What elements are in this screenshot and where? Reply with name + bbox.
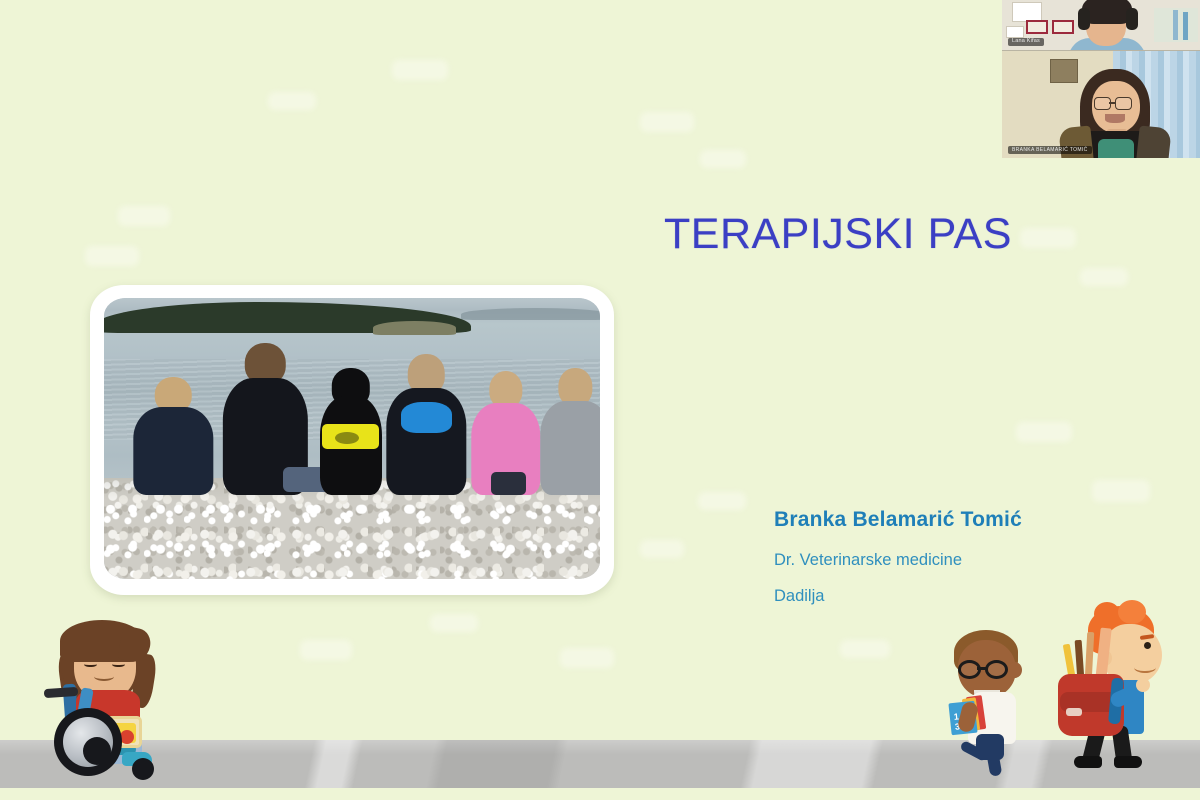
participant-name-label: BRANKA BELAMARIĆ TOMIĆ bbox=[1008, 146, 1092, 154]
girl-in-wheelchair-illustration bbox=[38, 612, 186, 772]
boy-with-books-illustration: 1 2 3 bbox=[944, 626, 1030, 776]
headset-icon bbox=[1126, 8, 1138, 30]
background-blob bbox=[1092, 480, 1150, 502]
eye-icon bbox=[1144, 642, 1151, 649]
smile-icon bbox=[1134, 662, 1156, 673]
wall-poster bbox=[1050, 59, 1078, 83]
eye-icon bbox=[112, 660, 125, 667]
child-dark-trousers bbox=[491, 472, 526, 494]
ground-underline bbox=[0, 788, 1200, 800]
background-blob bbox=[560, 648, 614, 668]
headset-icon bbox=[1078, 8, 1090, 30]
wheel-rim bbox=[63, 717, 113, 767]
video-conference-panel[interactable]: Lana Kifas BRANKA BELAMARIĆ TOMIĆ bbox=[1002, 0, 1200, 158]
picture-frame bbox=[1052, 20, 1074, 34]
paintbrush-icon bbox=[1085, 632, 1095, 680]
wall-shelf bbox=[1012, 2, 1042, 22]
beach-photo bbox=[104, 298, 600, 579]
slide-title: TERAPIJSKI PAS bbox=[664, 210, 1012, 259]
child-figure bbox=[387, 354, 466, 495]
wheel-hub bbox=[83, 737, 111, 765]
background-blob bbox=[85, 246, 139, 266]
presenter-name: Branka Belamarić Tomić bbox=[774, 508, 1022, 532]
background-blob bbox=[1080, 268, 1128, 286]
presenter-credential: Dr. Veterinarske medicine bbox=[774, 551, 1022, 570]
photo-frame bbox=[90, 285, 614, 595]
glasses-bridge-icon bbox=[977, 667, 987, 670]
background-blob bbox=[1016, 422, 1072, 442]
child-body bbox=[134, 407, 213, 494]
glasses-bridge-icon bbox=[1109, 102, 1116, 104]
child-body bbox=[540, 401, 600, 495]
video-tile-top[interactable]: Lana Kifas bbox=[1002, 0, 1200, 50]
wheelchair-wheel bbox=[54, 708, 122, 776]
background-blob bbox=[1020, 228, 1076, 248]
shoe-icon bbox=[1074, 756, 1102, 768]
background-blob bbox=[430, 614, 478, 632]
wall-shelf bbox=[1006, 26, 1024, 38]
glasses-lens-icon bbox=[1115, 97, 1132, 110]
trousers bbox=[976, 734, 1004, 760]
video-tile-bottom[interactable]: BRANKA BELAMARIĆ TOMIĆ bbox=[1002, 50, 1200, 158]
hair-curl bbox=[1118, 600, 1146, 624]
child-blue-hood bbox=[401, 402, 452, 433]
distant-shore bbox=[461, 308, 600, 321]
ear bbox=[1008, 662, 1022, 678]
shirt bbox=[1098, 139, 1134, 158]
background-blob bbox=[698, 492, 746, 510]
background-blob bbox=[392, 60, 448, 80]
child-figure bbox=[134, 377, 213, 495]
background-blob bbox=[640, 112, 694, 132]
glasses-lens-icon bbox=[985, 660, 1008, 679]
background-blob bbox=[118, 206, 170, 226]
therapy-dog bbox=[320, 368, 382, 494]
hand bbox=[1136, 678, 1150, 692]
hair-curl bbox=[1094, 602, 1120, 626]
smile-icon bbox=[1105, 114, 1125, 123]
wheelchair-caster-wheel bbox=[132, 758, 154, 780]
backpack-tag bbox=[1066, 708, 1082, 716]
boy-with-backpack-illustration bbox=[1052, 606, 1180, 776]
background-blob bbox=[640, 540, 684, 558]
apple-icon bbox=[120, 730, 134, 744]
presenter-block: Branka Belamarić Tomić Dr. Veterinarske … bbox=[774, 508, 1022, 606]
background-blob bbox=[300, 640, 352, 660]
presenter-role: Dadilja bbox=[774, 587, 1022, 606]
picture-frame bbox=[1026, 20, 1048, 34]
shoe-icon bbox=[1114, 756, 1142, 768]
eye-icon bbox=[84, 660, 97, 667]
child-figure bbox=[540, 368, 600, 494]
background-blob bbox=[840, 640, 890, 658]
background-blob bbox=[700, 150, 746, 168]
wall-stripe bbox=[1183, 12, 1188, 40]
background-blob bbox=[268, 92, 316, 110]
participant-name-label: Lana Kifas bbox=[1008, 38, 1044, 47]
smile-icon bbox=[94, 672, 114, 681]
wall-stripe bbox=[1173, 10, 1178, 40]
